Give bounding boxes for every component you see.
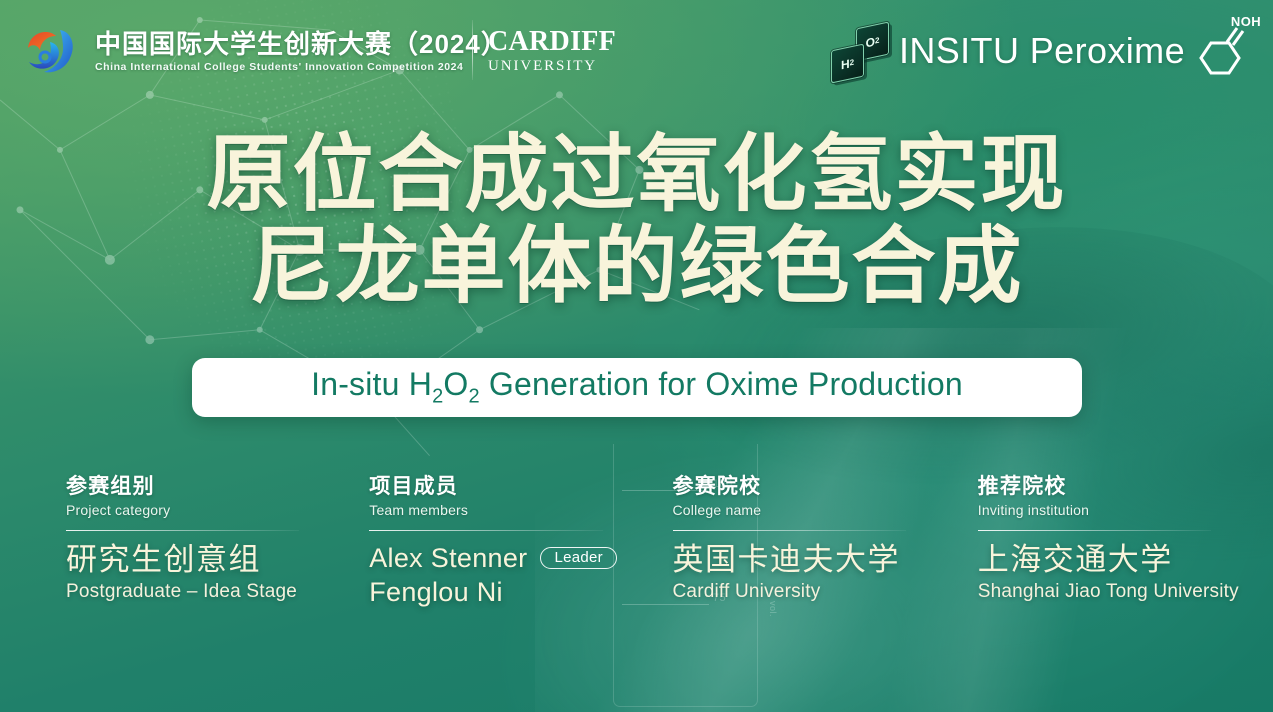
- value-en-project-category: Postgraduate – Idea Stage: [66, 580, 337, 605]
- team-member-name-1: Alex Stenner: [369, 541, 527, 575]
- value-cn-inviting-institution: 上海交通大学: [978, 541, 1249, 579]
- h2-tile-sub: 2: [850, 58, 854, 68]
- subtitle-sub1: 2: [432, 386, 443, 408]
- header-divider: [472, 20, 473, 80]
- h2-tile-icon: H2: [831, 43, 864, 83]
- column-divider: [673, 530, 906, 531]
- oxime-molecule-icon: NOH: [1191, 18, 1255, 84]
- label-cn-college-name: 参赛院校: [673, 474, 944, 499]
- oxime-noh-label: NOH: [1231, 14, 1261, 29]
- value-en-college-name: Cardiff University: [673, 580, 944, 605]
- column-divider: [66, 530, 299, 531]
- h2-tile-letter: H: [841, 56, 850, 72]
- main-title-line1: 原位合成过氧化氢实现: [0, 132, 1273, 218]
- cardiff-logo-line2: UNIVERSITY: [488, 59, 616, 74]
- column-divider: [369, 530, 602, 531]
- competition-title-block: 中国国际大学生创新大赛（2024） China International Co…: [95, 31, 508, 72]
- o2-tile-sub: 2: [875, 36, 879, 46]
- label-cn-project-category: 参赛组别: [66, 474, 337, 499]
- value-en-inviting-institution: Shanghai Jiao Tong University: [978, 580, 1249, 605]
- value-cn-college-name: 英国卡迪夫大学: [673, 541, 944, 579]
- label-cn-team-members: 项目成员: [369, 474, 640, 499]
- product-name: INSITU Peroxime: [899, 30, 1185, 72]
- column-divider: [978, 530, 1211, 531]
- team-member-name-2: Fenglou Ni: [369, 575, 640, 609]
- team-member-row: Alex Stenner Leader: [369, 541, 640, 575]
- gas-tiles-icon: O2 H2: [829, 19, 893, 83]
- info-column-team-members: 项目成员 Team members Alex Stenner Leader Fe…: [361, 474, 664, 609]
- product-branding: O2 H2 INSITU Peroxime NOH: [829, 18, 1255, 84]
- header-bar: 中国国际大学生创新大赛（2024） China International Co…: [0, 0, 1273, 104]
- label-cn-inviting-institution: 推荐院校: [978, 474, 1249, 499]
- label-en-team-members: Team members: [369, 502, 640, 518]
- competition-branding: 中国国际大学生创新大赛（2024） China International Co…: [20, 22, 508, 82]
- value-cn-project-category: 研究生创意组: [66, 541, 337, 579]
- subtitle-part2: O: [443, 366, 468, 402]
- subtitle-sub2: 2: [468, 386, 479, 408]
- subtitle-pill: In-situ H2O2 Generation for Oxime Produc…: [192, 358, 1082, 417]
- cardiff-logo-line1: CARDIFF: [488, 28, 616, 56]
- subtitle-part1: In-situ H: [311, 366, 432, 402]
- leader-badge: Leader: [540, 547, 617, 569]
- label-en-project-category: Project category: [66, 502, 337, 518]
- competition-emblem-icon: [20, 22, 82, 82]
- poster-canvas: 100 75 vol.: [0, 0, 1273, 712]
- main-title-line2: 尼龙单体的绿色合成: [0, 224, 1273, 310]
- cardiff-university-logo: CARDIFF UNIVERSITY: [488, 28, 616, 74]
- label-en-college-name: College name: [673, 502, 944, 518]
- subtitle-part3: Generation for Oxime Production: [480, 366, 963, 402]
- o2-tile-letter: O: [866, 34, 875, 50]
- label-en-inviting-institution: Inviting institution: [978, 502, 1249, 518]
- info-column-inviting-institution: 推荐院校 Inviting institution 上海交通大学 Shangha…: [968, 474, 1273, 609]
- info-columns: 参赛组别 Project category 研究生创意组 Postgraduat…: [0, 474, 1273, 609]
- info-column-project-category: 参赛组别 Project category 研究生创意组 Postgraduat…: [0, 474, 361, 609]
- info-column-college-name: 参赛院校 College name 英国卡迪夫大学 Cardiff Univer…: [665, 474, 968, 609]
- main-title: 原位合成过氧化氢实现 尼龙单体的绿色合成: [0, 132, 1273, 309]
- competition-title-cn: 中国国际大学生创新大赛（2024）: [95, 31, 508, 58]
- subtitle-text: In-situ H2O2 Generation for Oxime Produc…: [311, 366, 963, 408]
- competition-title-en: China International College Students' In…: [95, 61, 508, 73]
